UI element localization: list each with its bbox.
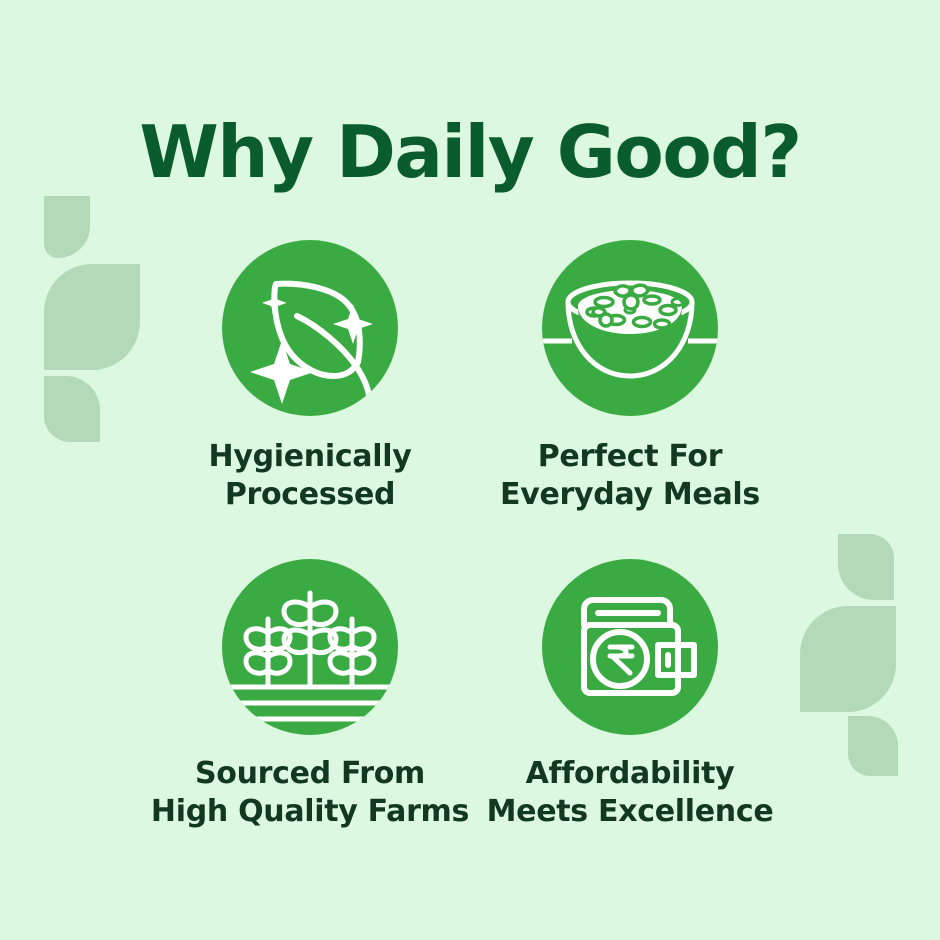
feature-item-affordability-meets-excellence: Affordability Meets Excellence bbox=[470, 559, 790, 832]
crop-field-icon bbox=[222, 559, 398, 735]
wallet-rupee-icon bbox=[542, 559, 718, 735]
feature-label: Hygienically Processed bbox=[209, 438, 412, 515]
leaf-sparkle-icon bbox=[222, 240, 398, 416]
soup-bowl-icon bbox=[542, 240, 718, 416]
page-title: Why Daily Good? bbox=[0, 116, 940, 188]
why-daily-good-poster: Why Daily Good? bbox=[0, 0, 940, 940]
feature-item-perfect-for-everyday-meals: Perfect For Everyday Meals bbox=[470, 240, 790, 515]
feature-item-sourced-from-high-quality-farms: Sourced From High Quality Farms bbox=[150, 559, 470, 832]
feature-item-hygienically-processed: Hygienically Processed bbox=[150, 240, 470, 515]
feature-label: Affordability Meets Excellence bbox=[487, 755, 774, 832]
feature-label: Sourced From High Quality Farms bbox=[151, 755, 469, 832]
feature-row-top: Hygienically Processed bbox=[0, 240, 940, 515]
feature-row-bottom: Sourced From High Quality Farms bbox=[0, 559, 940, 832]
feature-grid: Hygienically Processed bbox=[0, 240, 940, 832]
feature-label: Perfect For Everyday Meals bbox=[500, 438, 760, 515]
